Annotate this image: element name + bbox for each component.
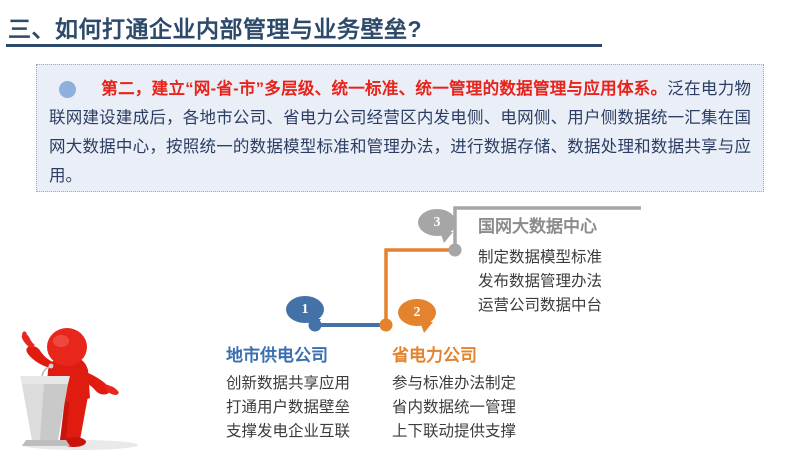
callout-emphasis-text: 第二，建立“网-省-市”多层级、统一标准、统一管理的数据管理与应用体系。 <box>101 80 667 98</box>
list-item: 参与标准办法制定 <box>392 372 516 396</box>
node-title-provincial-power-company: 省电力公司 <box>392 341 477 366</box>
node-badge-2-number: 2 <box>414 305 421 321</box>
node-list-city-power-supply-company: 创新数据共享应用 打通用户数据壁垒 支撑发电企业互联 <box>226 372 350 444</box>
figure-head <box>47 328 87 366</box>
node-dot-province <box>380 319 393 332</box>
page-title: 三、如何打通企业内部管理与业务壁垒? <box>8 10 422 44</box>
list-item: 运营公司数据中台 <box>478 294 602 318</box>
list-item: 打通用户数据壁垒 <box>226 396 350 420</box>
node-title-city-power-supply-company: 地市供电公司 <box>226 341 328 366</box>
figure-head-highlight <box>53 335 69 347</box>
callout-paragraph: 第二，建立“网-省-市”多层级、统一标准、统一管理的数据管理与应用体系。泛在电力… <box>49 75 751 191</box>
list-item: 上下联动提供支撑 <box>392 420 516 444</box>
node-dot-center <box>449 244 462 257</box>
node-badge-3[interactable]: 3 <box>418 209 456 236</box>
title-underline-divider <box>6 44 602 47</box>
list-item: 发布数据管理办法 <box>478 270 602 294</box>
node-list-national-data-center: 制定数据模型标准 发布数据管理办法 运营公司数据中台 <box>478 246 602 318</box>
list-item: 支撑发电企业互联 <box>226 420 350 444</box>
podium-top <box>20 376 70 384</box>
node-badge-2[interactable]: 2 <box>398 299 436 326</box>
node-list-provincial-power-company: 参与标准办法制定 省内数据统一管理 上下联动提供支撑 <box>392 372 516 444</box>
list-item: 省内数据统一管理 <box>392 396 516 420</box>
node-title-national-data-center: 国网大数据中心 <box>478 212 597 237</box>
podium-microphone-head <box>49 364 54 369</box>
list-item: 创新数据共享应用 <box>226 372 350 396</box>
red-presenter-at-podium-icon <box>8 322 186 450</box>
node-badge-1[interactable]: 1 <box>286 296 324 323</box>
bullet-dot-icon <box>59 81 76 98</box>
presenter-illustration <box>8 322 186 450</box>
callout-text-box: 第二，建立“网-省-市”多层级、统一标准、统一管理的数据管理与应用体系。泛在电力… <box>36 64 764 192</box>
list-item: 制定数据模型标准 <box>478 246 602 270</box>
podium-base <box>22 440 70 446</box>
node-badge-1-number: 1 <box>302 302 309 318</box>
node-badge-3-number: 3 <box>434 215 441 231</box>
